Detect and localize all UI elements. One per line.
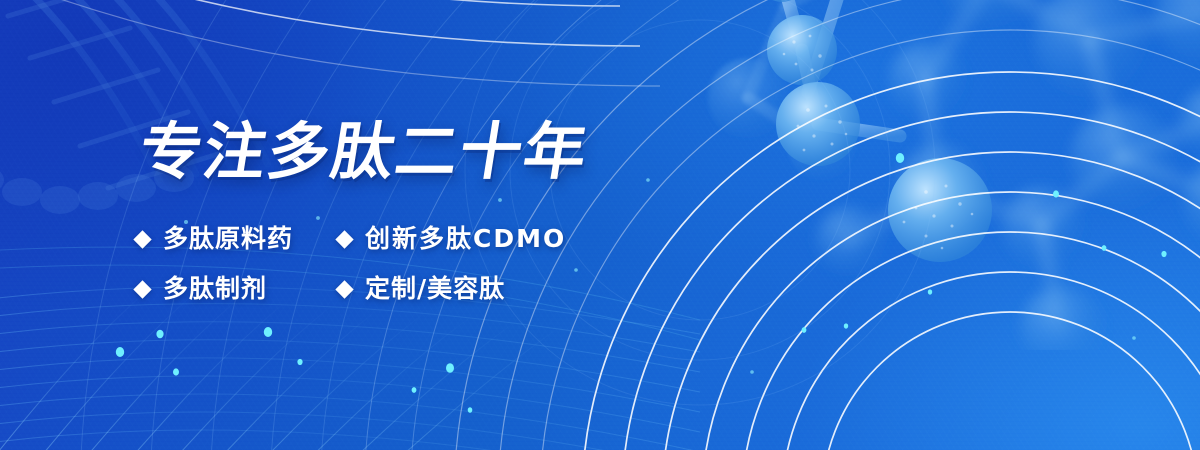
feature-label: 创新多肽CDMO: [365, 222, 566, 256]
banner-content: 专注多肽二十年 多肽原料药 创新多肽CDMO 多肽制剂 定制/美容肽: [0, 0, 640, 450]
diamond-bullet-icon: [133, 280, 151, 298]
diamond-bullet-icon: [133, 230, 151, 248]
feature-item-peptide-api[interactable]: 多肽原料药: [136, 222, 338, 256]
feature-label: 定制/美容肽: [365, 272, 505, 306]
diamond-bullet-icon: [335, 230, 353, 248]
feature-row-2: 多肽制剂 定制/美容肽: [136, 272, 505, 306]
peptide-hero-banner: 专注多肽二十年 多肽原料药 创新多肽CDMO 多肽制剂 定制/美容肽: [0, 0, 1200, 450]
page-title: 专注多肽二十年: [135, 118, 594, 186]
feature-label: 多肽原料药: [163, 222, 293, 256]
feature-item-innovative-peptide-cdmo[interactable]: 创新多肽CDMO: [338, 222, 566, 256]
feature-item-peptide-formulation[interactable]: 多肽制剂: [136, 272, 338, 306]
feature-row-1: 多肽原料药 创新多肽CDMO: [136, 222, 566, 256]
molecule-structure-icon: [690, 0, 1200, 350]
diamond-bullet-icon: [335, 280, 353, 298]
feature-label: 多肽制剂: [163, 272, 267, 306]
feature-item-custom-cosmetic-peptide[interactable]: 定制/美容肽: [338, 272, 505, 306]
